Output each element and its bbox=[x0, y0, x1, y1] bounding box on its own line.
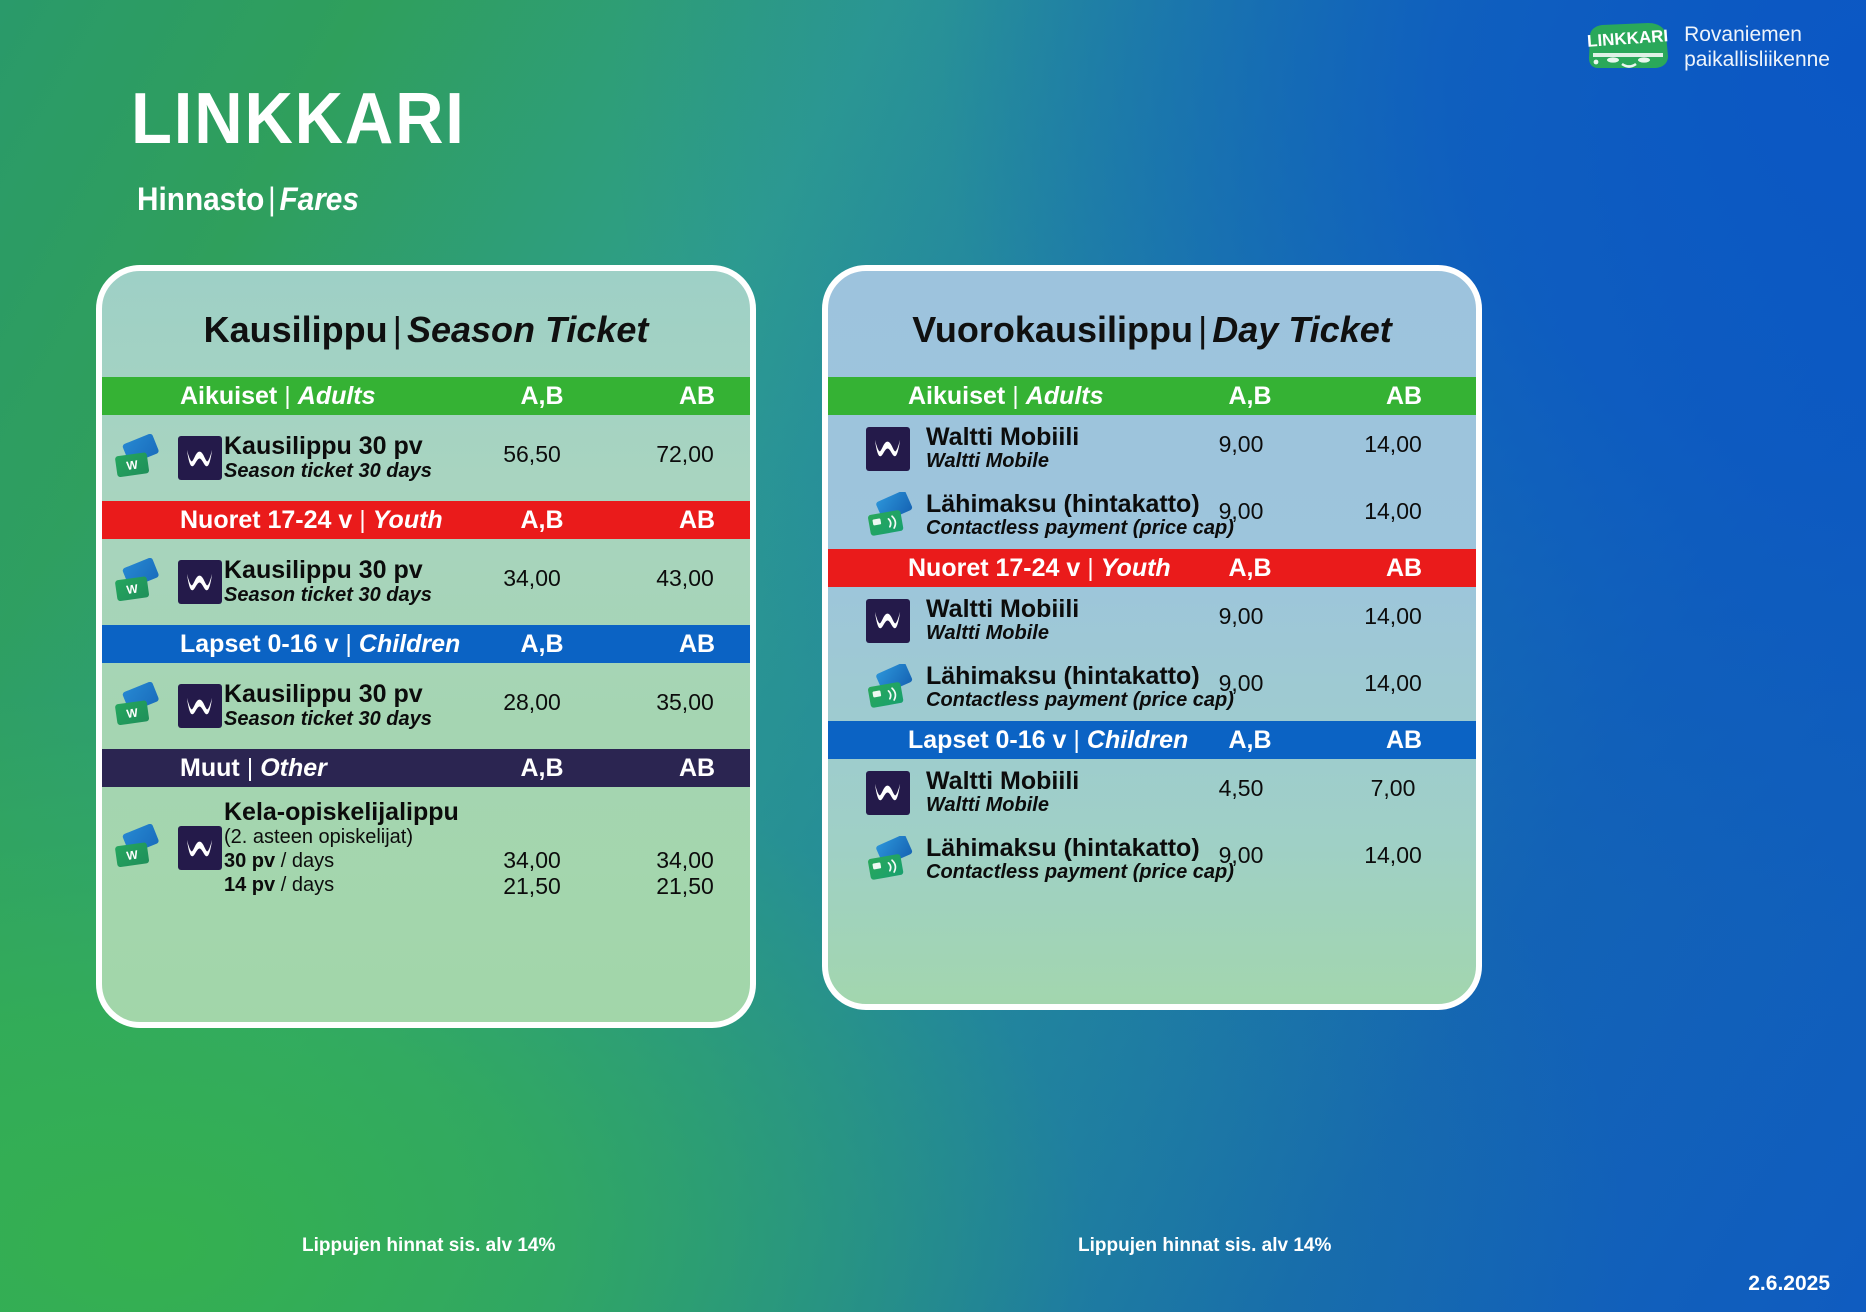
waltti-app-icon bbox=[178, 560, 222, 604]
band-label-fi: Aikuiset bbox=[180, 382, 277, 410]
row-labels: Kausilippu 30 pv Season ticket 30 days bbox=[224, 433, 432, 482]
card-title-separator: | bbox=[1193, 309, 1212, 350]
table-row: Waltti Mobiili Waltti Mobile9,00 14,00 bbox=[828, 587, 1476, 654]
row-labels: Lähimaksu (hintakatto) Contactless payme… bbox=[926, 663, 1234, 712]
row-labels: Waltti Mobiili Waltti Mobile bbox=[926, 424, 1079, 473]
waltti-app-icon bbox=[178, 436, 222, 480]
contactless-card-icon bbox=[866, 492, 922, 540]
row-name-en: Contactless payment (price cap) bbox=[926, 861, 1234, 884]
logo-wordmark: Rovaniemen paikallisliikenne bbox=[1684, 23, 1830, 73]
card-title: Vuorokausilippu|Day Ticket bbox=[828, 271, 1476, 377]
band-label-separator: | bbox=[277, 382, 298, 410]
table-row: Waltti Mobiili Waltti Mobile4,50 7,00 bbox=[828, 759, 1476, 826]
waltti-travelcard-icon: W bbox=[112, 682, 168, 730]
band-label-fi: Aikuiset bbox=[908, 382, 1005, 410]
band-label: Lapset 0-16 v|Children bbox=[908, 726, 1188, 755]
card-title-fi: Kausilippu bbox=[204, 309, 388, 350]
table-row: W Kausilippu 30 pv Season ticket 30 days… bbox=[102, 663, 750, 749]
waltti-app-icon bbox=[178, 826, 222, 870]
row-labels: Waltti Mobiili Waltti Mobile bbox=[926, 596, 1079, 645]
waltti-app-icon bbox=[178, 684, 222, 728]
row-price-b: 14,00 bbox=[1358, 431, 1428, 458]
band-label-separator: | bbox=[352, 506, 373, 534]
row-price-a-1: 34,00 bbox=[497, 847, 567, 874]
band-col-b: AB bbox=[1374, 382, 1434, 411]
table-row: W Kela-opiskelijalippu (2. asteen opiske… bbox=[102, 787, 750, 909]
row-labels: Kausilippu 30 pv Season ticket 30 days bbox=[224, 681, 432, 730]
section-band-adults: Aikuiset|Adults A,B AB bbox=[102, 377, 750, 415]
row-name-fi: Waltti Mobiili bbox=[926, 768, 1079, 794]
page-subtitle-fi: Hinnasto bbox=[137, 181, 264, 217]
waltti-travelcard-icon: W bbox=[112, 434, 168, 482]
row-name-en: Waltti Mobile bbox=[926, 450, 1079, 473]
row-labels: Waltti Mobiili Waltti Mobile bbox=[926, 768, 1079, 817]
section-band-adults: Aikuiset|Adults A,B AB bbox=[828, 377, 1476, 415]
row-name-en: Season ticket 30 days bbox=[224, 708, 432, 731]
row-price-a: 34,00 bbox=[497, 565, 567, 592]
band-label: Nuoret 17-24 v|Youth bbox=[180, 506, 443, 535]
row-price-a: 9,00 bbox=[1206, 498, 1276, 525]
row-name-fi: Lähimaksu (hintakatto) bbox=[926, 663, 1234, 689]
waltti-app-icon bbox=[866, 427, 910, 471]
waltti-app-icon bbox=[866, 771, 910, 815]
row-price-b: 72,00 bbox=[650, 441, 720, 468]
band-label-en: Adults bbox=[1026, 382, 1104, 410]
row-icons bbox=[866, 836, 918, 884]
band-col-a: A,B bbox=[1220, 554, 1280, 583]
row-price-a: 56,50 bbox=[497, 441, 567, 468]
band-label-separator: | bbox=[240, 754, 261, 782]
band-label-fi: Muut bbox=[180, 754, 240, 782]
section-band-youth: Nuoret 17-24 v|Youth A,B AB bbox=[102, 501, 750, 539]
band-label-fi: Lapset 0-16 v bbox=[180, 630, 338, 658]
row-icons bbox=[866, 664, 918, 712]
band-label-en: Children bbox=[359, 630, 460, 658]
row-icons: W bbox=[112, 558, 216, 606]
linkkari-bus-icon: LINKKARI bbox=[1586, 22, 1670, 74]
row-name-fi: Kausilippu 30 pv bbox=[224, 557, 432, 583]
band-label-separator: | bbox=[338, 630, 359, 658]
day-ticket-card: Vuorokausilippu|Day Ticket Aikuiset|Adul… bbox=[822, 265, 1482, 1010]
band-col-b: AB bbox=[667, 754, 727, 783]
row-labels: Kela-opiskelijalippu (2. asteen opiskeli… bbox=[224, 799, 459, 897]
band-label: Aikuiset|Adults bbox=[908, 382, 1104, 411]
logo-line-1: Rovaniemen bbox=[1684, 23, 1830, 48]
band-label-fi: Nuoret 17-24 v bbox=[908, 554, 1080, 582]
row-name-fi: Waltti Mobiili bbox=[926, 596, 1079, 622]
row-labels: Lähimaksu (hintakatto) Contactless payme… bbox=[926, 835, 1234, 884]
row-price-b: 14,00 bbox=[1358, 842, 1428, 869]
row-name-en: Waltti Mobile bbox=[926, 794, 1079, 817]
section-band-youth: Nuoret 17-24 v|Youth A,B AB bbox=[828, 549, 1476, 587]
row-labels: Lähimaksu (hintakatto) Contactless payme… bbox=[926, 491, 1234, 540]
card-title-fi: Vuorokausilippu bbox=[912, 309, 1193, 350]
band-col-a: A,B bbox=[1220, 382, 1280, 411]
row-duration-2: 14 pv / days bbox=[224, 873, 459, 897]
band-label-en: Adults bbox=[298, 382, 376, 410]
band-label-separator: | bbox=[1005, 382, 1026, 410]
row-price-a-2: 21,50 bbox=[497, 873, 567, 900]
table-row: Lähimaksu (hintakatto) Contactless payme… bbox=[828, 482, 1476, 549]
row-icons: W bbox=[112, 682, 216, 730]
table-row: W Kausilippu 30 pv Season ticket 30 days… bbox=[102, 415, 750, 501]
card-title-separator: | bbox=[388, 309, 407, 350]
row-name-en: Waltti Mobile bbox=[926, 622, 1079, 645]
contactless-card-icon bbox=[866, 836, 922, 884]
row-name-fi: Lähimaksu (hintakatto) bbox=[926, 835, 1234, 861]
row-price-b-1: 34,00 bbox=[650, 847, 720, 874]
band-label-fi: Lapset 0-16 v bbox=[908, 726, 1066, 754]
card-title: Kausilippu|Season Ticket bbox=[102, 271, 750, 377]
table-row: Lähimaksu (hintakatto) Contactless payme… bbox=[828, 826, 1476, 893]
row-icons bbox=[866, 492, 918, 540]
row-labels: Kausilippu 30 pv Season ticket 30 days bbox=[224, 557, 432, 606]
row-icons bbox=[866, 771, 918, 815]
date-stamp: 2.6.2025 bbox=[1748, 1272, 1830, 1296]
footnote-right: Lippujen hinnat sis. alv 14% bbox=[1078, 1235, 1331, 1257]
page-subtitle: Hinnasto|Fares bbox=[137, 181, 359, 218]
table-row: Waltti Mobiili Waltti Mobile9,00 14,00 bbox=[828, 415, 1476, 482]
row-name-fi: Kela-opiskelijalippu bbox=[224, 799, 459, 825]
footnote-left: Lippujen hinnat sis. alv 14% bbox=[302, 1235, 555, 1257]
section-band-other: Muut|Other A,B AB bbox=[102, 749, 750, 787]
row-icons bbox=[866, 599, 918, 643]
band-label: Muut|Other bbox=[180, 754, 327, 783]
band-label-separator: | bbox=[1066, 726, 1087, 754]
row-icons bbox=[866, 427, 918, 471]
row-price-b: 14,00 bbox=[1358, 603, 1428, 630]
row-name-fi: Waltti Mobiili bbox=[926, 424, 1079, 450]
band-col-b: AB bbox=[667, 382, 727, 411]
row-price-a: 9,00 bbox=[1206, 431, 1276, 458]
card-title-en: Day Ticket bbox=[1212, 309, 1391, 350]
band-col-b: AB bbox=[667, 506, 727, 535]
band-col-b: AB bbox=[667, 630, 727, 659]
section-band-children: Lapset 0-16 v|Children A,B AB bbox=[102, 625, 750, 663]
row-price-a: 4,50 bbox=[1206, 775, 1276, 802]
band-label: Lapset 0-16 v|Children bbox=[180, 630, 460, 659]
band-label-en: Other bbox=[260, 754, 327, 782]
band-col-b: AB bbox=[1374, 554, 1434, 583]
band-col-a: A,B bbox=[512, 382, 572, 411]
row-price-a: 28,00 bbox=[497, 689, 567, 716]
row-name-en: Season ticket 30 days bbox=[224, 584, 432, 607]
contactless-card-icon bbox=[866, 664, 922, 712]
band-label: Aikuiset|Adults bbox=[180, 382, 376, 411]
row-name-note: (2. asteen opiskelijat) bbox=[224, 825, 459, 849]
section-band-children: Lapset 0-16 v|Children A,B AB bbox=[828, 721, 1476, 759]
row-price-a: 9,00 bbox=[1206, 842, 1276, 869]
row-price-b: 7,00 bbox=[1358, 775, 1428, 802]
waltti-app-icon bbox=[866, 599, 910, 643]
brand-logo: LINKKARI Rovaniemen paikallisliikenne bbox=[1586, 22, 1830, 74]
row-icons: W bbox=[112, 434, 216, 482]
band-label-fi: Nuoret 17-24 v bbox=[180, 506, 352, 534]
row-price-b: 43,00 bbox=[650, 565, 720, 592]
row-name-fi: Lähimaksu (hintakatto) bbox=[926, 491, 1234, 517]
row-name-en: Season ticket 30 days bbox=[224, 460, 432, 483]
page-subtitle-separator: | bbox=[264, 181, 279, 217]
band-label-en: Children bbox=[1087, 726, 1188, 754]
row-price-b: 14,00 bbox=[1358, 498, 1428, 525]
waltti-travelcard-icon: W bbox=[112, 824, 168, 872]
row-name-fi: Kausilippu 30 pv bbox=[224, 681, 432, 707]
page-subtitle-en: Fares bbox=[279, 181, 358, 217]
row-price-b: 35,00 bbox=[650, 689, 720, 716]
page-title: LINKKARI bbox=[131, 78, 466, 160]
band-label-en: Youth bbox=[1101, 554, 1171, 582]
band-col-a: A,B bbox=[1220, 726, 1280, 755]
row-price-b: 14,00 bbox=[1358, 670, 1428, 697]
row-duration-1: 30 pv / days bbox=[224, 849, 459, 873]
row-price-a: 9,00 bbox=[1206, 670, 1276, 697]
band-col-a: A,B bbox=[512, 630, 572, 659]
card-title-en: Season Ticket bbox=[407, 309, 648, 350]
logo-line-2: paikallisliikenne bbox=[1684, 48, 1830, 73]
band-col-a: A,B bbox=[512, 506, 572, 535]
table-row: W Kausilippu 30 pv Season ticket 30 days… bbox=[102, 539, 750, 625]
row-name-en: Contactless payment (price cap) bbox=[926, 689, 1234, 712]
table-row: Lähimaksu (hintakatto) Contactless payme… bbox=[828, 654, 1476, 721]
row-icons: W bbox=[112, 824, 216, 872]
row-name-en: Contactless payment (price cap) bbox=[926, 517, 1234, 540]
season-ticket-card: Kausilippu|Season Ticket Aikuiset|Adults… bbox=[96, 265, 756, 1028]
waltti-travelcard-icon: W bbox=[112, 558, 168, 606]
band-col-a: A,B bbox=[512, 754, 572, 783]
band-col-b: AB bbox=[1374, 726, 1434, 755]
band-label-separator: | bbox=[1080, 554, 1101, 582]
row-name-fi: Kausilippu 30 pv bbox=[224, 433, 432, 459]
band-label-en: Youth bbox=[373, 506, 443, 534]
row-price-a: 9,00 bbox=[1206, 603, 1276, 630]
row-price-b-2: 21,50 bbox=[650, 873, 720, 900]
band-label: Nuoret 17-24 v|Youth bbox=[908, 554, 1171, 583]
